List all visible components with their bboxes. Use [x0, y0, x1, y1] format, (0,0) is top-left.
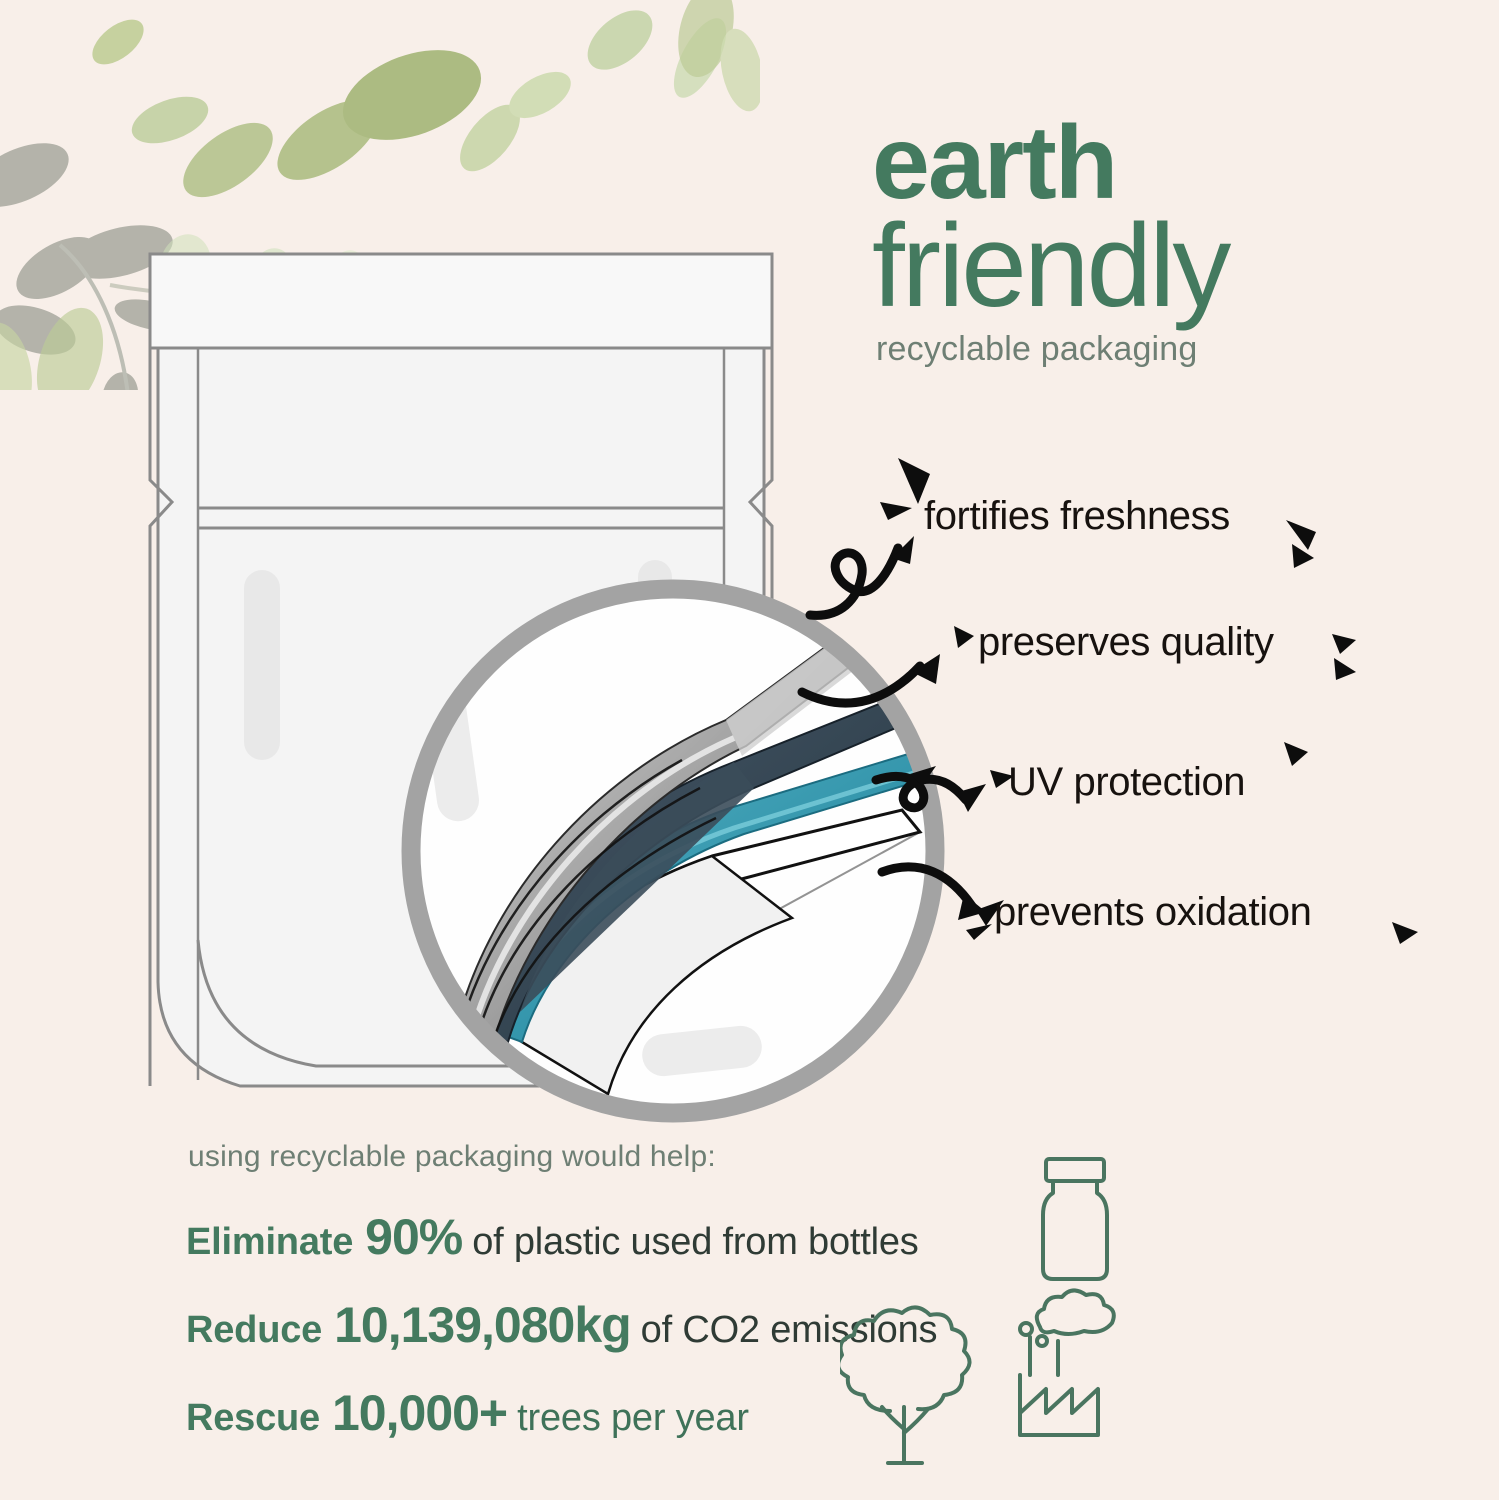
feature-label-fortifies-freshness: fortifies freshness [924, 494, 1230, 539]
stat-row-eliminate: Eliminate 90% of plastic used from bottl… [186, 1208, 1336, 1266]
stat-value: 10,000+ [332, 1384, 507, 1442]
stat-verb: Eliminate [186, 1221, 353, 1264]
feature-label-preserves-quality: preserves quality [978, 620, 1274, 665]
pouch-highlight-left [244, 570, 280, 760]
stats-intro-text: using recyclable packaging would help: [188, 1140, 1336, 1174]
stat-verb: Rescue [186, 1397, 320, 1440]
headline-line-1: earth [872, 118, 1492, 210]
feature-label-uv-protection: UV protection [1008, 760, 1245, 805]
stat-verb: Reduce [186, 1309, 322, 1352]
stat-value: 10,139,080kg [334, 1296, 631, 1354]
stat-tail: of plastic used from bottles [472, 1221, 918, 1264]
pouch-top-seal [150, 254, 772, 348]
stat-value: 90% [365, 1208, 462, 1266]
stat-row-reduce: Reduce 10,139,080kg of CO2 emissions [186, 1296, 1336, 1354]
material-cross-section-magnifier [382, 560, 964, 1142]
stat-row-rescue: Rescue 10,000+ trees per year [186, 1384, 1336, 1442]
headline-block: earth friendly recyclable packaging [872, 118, 1492, 369]
headline-subtitle: recyclable packaging [876, 330, 1492, 369]
stat-tail: trees per year [517, 1397, 749, 1440]
feature-label-prevents-oxidation: prevents oxidation [994, 890, 1311, 935]
stat-tail: of CO2 emissions [641, 1309, 938, 1352]
headline-line-2: friendly [872, 210, 1492, 322]
infographic-canvas: earth friendly recyclable packaging fort… [0, 0, 1499, 1500]
stats-block: using recyclable packaging would help: E… [186, 1140, 1336, 1472]
